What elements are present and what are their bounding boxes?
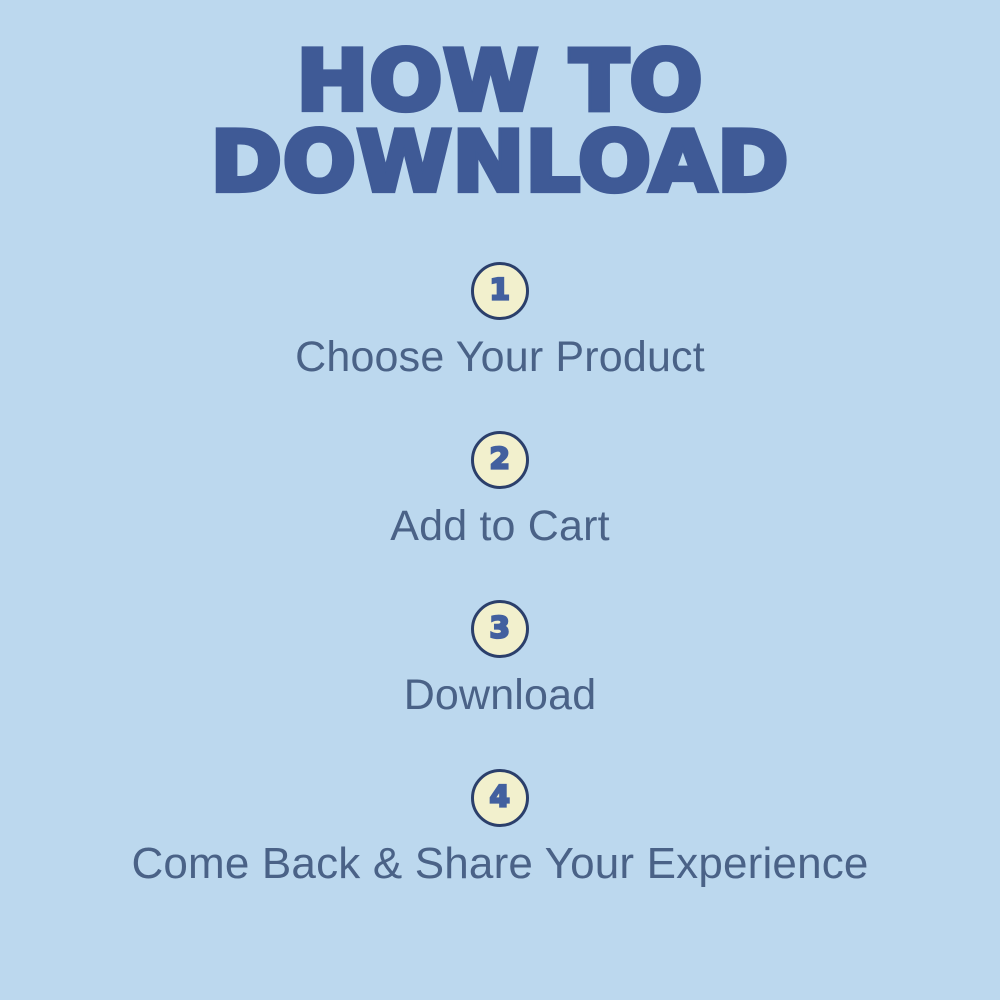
step-item-3: 3 Download (0, 600, 1000, 769)
page-title-line-1: HOW TO (0, 40, 1000, 125)
page-title: HOW TO DOWNLOAD (0, 42, 1000, 202)
step-number-4: 4 (490, 782, 510, 811)
step-label-4: Come Back & Share Your Experience (0, 839, 1000, 889)
step-item-1: 1 Choose Your Product (0, 262, 1000, 431)
step-number-2: 2 (490, 444, 510, 473)
page-title-line-2: DOWNLOAD (0, 122, 1000, 205)
step-number-3: 3 (490, 613, 510, 642)
step-number-1: 1 (490, 275, 510, 304)
step-number-badge-1: 1 (471, 262, 529, 320)
step-number-badge-2: 2 (471, 431, 529, 489)
step-number-badge-4: 4 (471, 769, 529, 827)
step-item-2: 2 Add to Cart (0, 431, 1000, 600)
how-to-download-poster: HOW TO DOWNLOAD 1 Choose Your Product 2 … (0, 0, 1000, 1000)
step-label-1: Choose Your Product (0, 332, 1000, 382)
step-label-2: Add to Cart (0, 501, 1000, 551)
steps-list: 1 Choose Your Product 2 Add to Cart 3 Do… (0, 262, 1000, 938)
step-label-3: Download (0, 670, 1000, 720)
step-item-4: 4 Come Back & Share Your Experience (0, 769, 1000, 938)
step-number-badge-3: 3 (471, 600, 529, 658)
